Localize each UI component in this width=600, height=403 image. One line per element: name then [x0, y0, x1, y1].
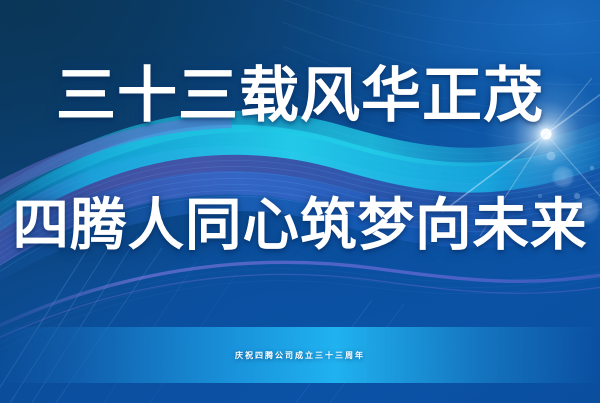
- anniversary-banner: 三十三载风华正茂 四腾人同心筑梦向未来 庆祝四腾公司成立三十三周年: [0, 0, 600, 403]
- subtitle-band: [0, 327, 600, 383]
